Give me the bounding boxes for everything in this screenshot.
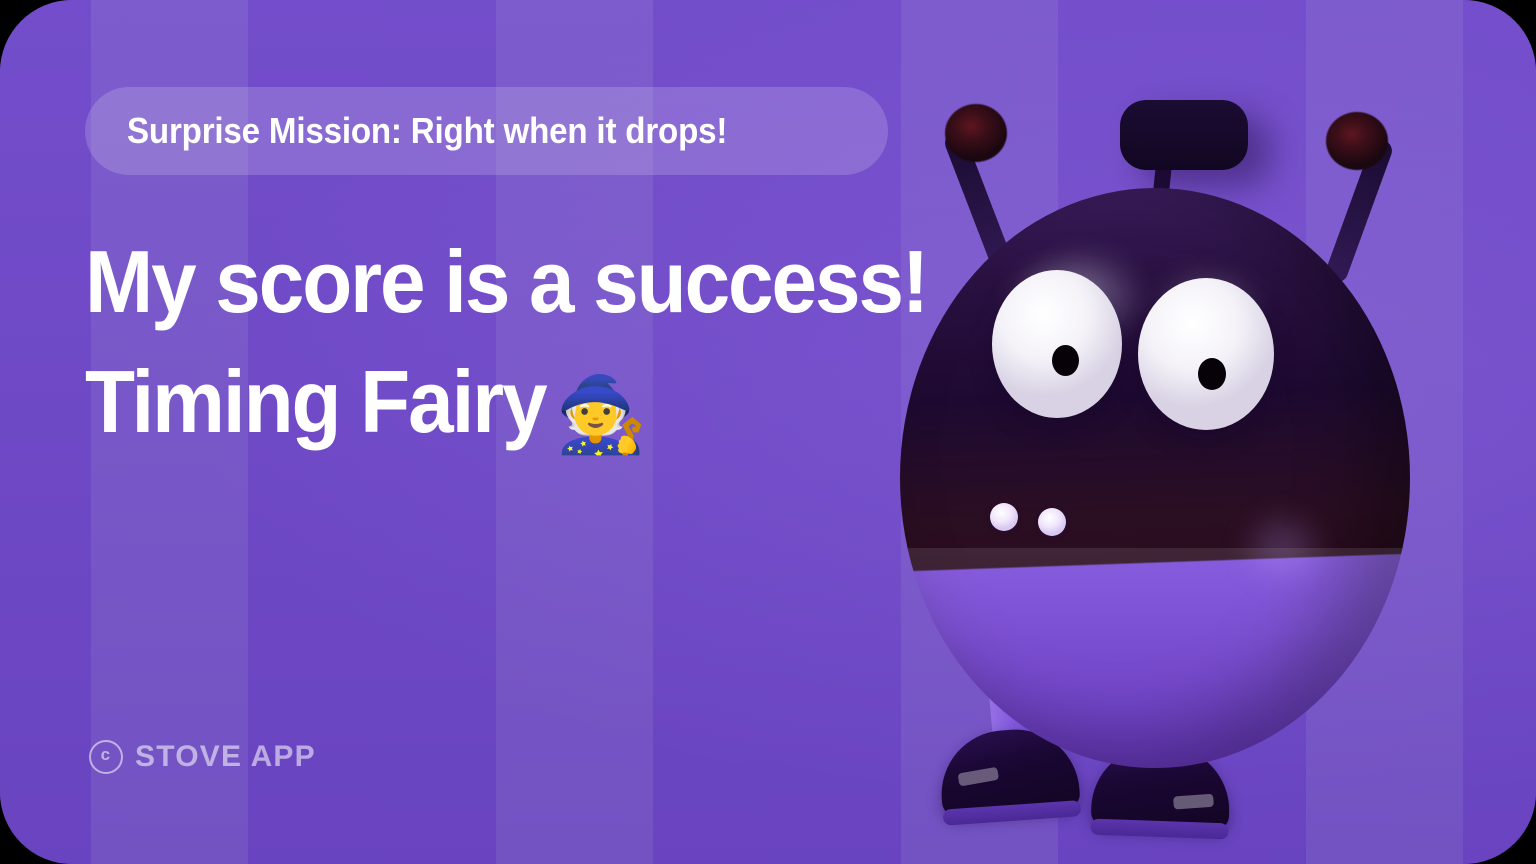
eye-left — [992, 270, 1122, 418]
belly-dot-1 — [990, 503, 1018, 531]
headline-line-2: Timing Fairy🧙 — [85, 342, 885, 462]
pupil-right — [1198, 358, 1226, 390]
eye-right — [1138, 278, 1274, 430]
mission-badge-label: Surprise Mission: Right when it drops! — [127, 110, 727, 152]
footer-credit: c STOVE APP — [89, 740, 316, 774]
headline-block: My score is a success! Timing Fairy🧙 — [85, 222, 945, 462]
shoe-sole-left — [943, 800, 1082, 826]
shoe-gloss-right — [1173, 794, 1214, 810]
copyright-icon: c — [89, 740, 123, 774]
promo-card: Surprise Mission: Right when it drops! M… — [0, 0, 1536, 864]
mage-emoji: 🧙 — [555, 378, 645, 452]
antenna-tip-left-icon — [945, 104, 1007, 162]
headline-line-2-text: Timing Fairy — [85, 352, 546, 451]
mission-badge: Surprise Mission: Right when it drops! — [85, 87, 888, 175]
belly-dot-2 — [1038, 508, 1066, 536]
text-column: Surprise Mission: Right when it drops! M… — [85, 0, 945, 864]
shoe-gloss-left — [957, 767, 999, 787]
body-lower-shading — [900, 548, 1410, 768]
head-cap-icon — [1120, 100, 1248, 170]
headline-line-1: My score is a success! — [85, 222, 885, 342]
pupil-left — [1052, 345, 1079, 376]
brand-label: STOVE APP — [135, 740, 316, 774]
antenna-tip-right-icon — [1326, 112, 1388, 170]
